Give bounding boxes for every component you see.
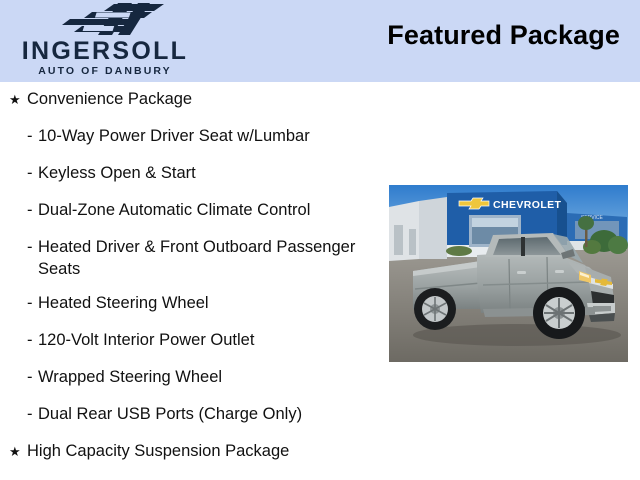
feature-row: ★High Capacity Suspension Package	[0, 440, 380, 477]
feature-row: -Heated Driver & Front Outboard Passenge…	[0, 236, 380, 292]
dash-bullet: -	[27, 366, 33, 388]
feature-row: -Heated Steering Wheel	[0, 292, 380, 329]
feature-label: Convenience Package	[27, 88, 192, 110]
feature-row: ★Convenience Package	[0, 88, 380, 125]
feature-row: -10-Way Power Driver Seat w/Lumbar	[0, 125, 380, 162]
dash-bullet: -	[27, 162, 33, 184]
feature-label: Dual-Zone Automatic Climate Control	[38, 199, 368, 221]
svg-text:CHEVROLET: CHEVROLET	[493, 199, 562, 211]
vehicle-photo: CHEVROLET SERVICE	[389, 185, 628, 362]
dealer-logo: INGERSOLL AUTO OF DANBURY	[0, 0, 210, 82]
ingersoll-winged-emblem-icon	[52, 2, 178, 36]
star-bullet-icon: ★	[9, 441, 21, 463]
feature-row: -Dual-Zone Automatic Climate Control	[0, 199, 380, 236]
dash-bullet: -	[27, 292, 33, 314]
feature-row: -Wrapped Steering Wheel	[0, 366, 380, 403]
feature-label: Wrapped Steering Wheel	[38, 366, 368, 388]
feature-row: -Dual Rear USB Ports (Charge Only)	[0, 403, 380, 440]
feature-label: Dual Rear USB Ports (Charge Only)	[38, 403, 368, 425]
dash-bullet: -	[27, 329, 33, 351]
feature-label: 120-Volt Interior Power Outlet	[38, 329, 368, 351]
star-bullet-icon: ★	[9, 89, 21, 111]
page-title: Featured Package	[387, 20, 620, 51]
feature-label: Keyless Open & Start	[38, 162, 368, 184]
dash-bullet: -	[27, 199, 33, 221]
feature-label: 10-Way Power Driver Seat w/Lumbar	[38, 125, 368, 147]
dash-bullet: -	[27, 403, 33, 425]
feature-label: High Capacity Suspension Package	[27, 440, 289, 462]
feature-row: -120-Volt Interior Power Outlet	[0, 329, 380, 366]
dash-bullet: -	[27, 125, 33, 147]
feature-list: ★Convenience Package-10-Way Power Driver…	[0, 88, 380, 477]
feature-label: Heated Driver & Front Outboard Passenger…	[38, 236, 368, 280]
dealer-wordmark: INGERSOLL	[0, 38, 210, 64]
header-banner: INGERSOLL AUTO OF DANBURY Featured Packa…	[0, 0, 640, 82]
dash-bullet: -	[27, 236, 33, 258]
feature-row: -Keyless Open & Start	[0, 162, 380, 199]
feature-label: Heated Steering Wheel	[38, 292, 368, 314]
dealer-subtitle: AUTO OF DANBURY	[0, 65, 210, 77]
